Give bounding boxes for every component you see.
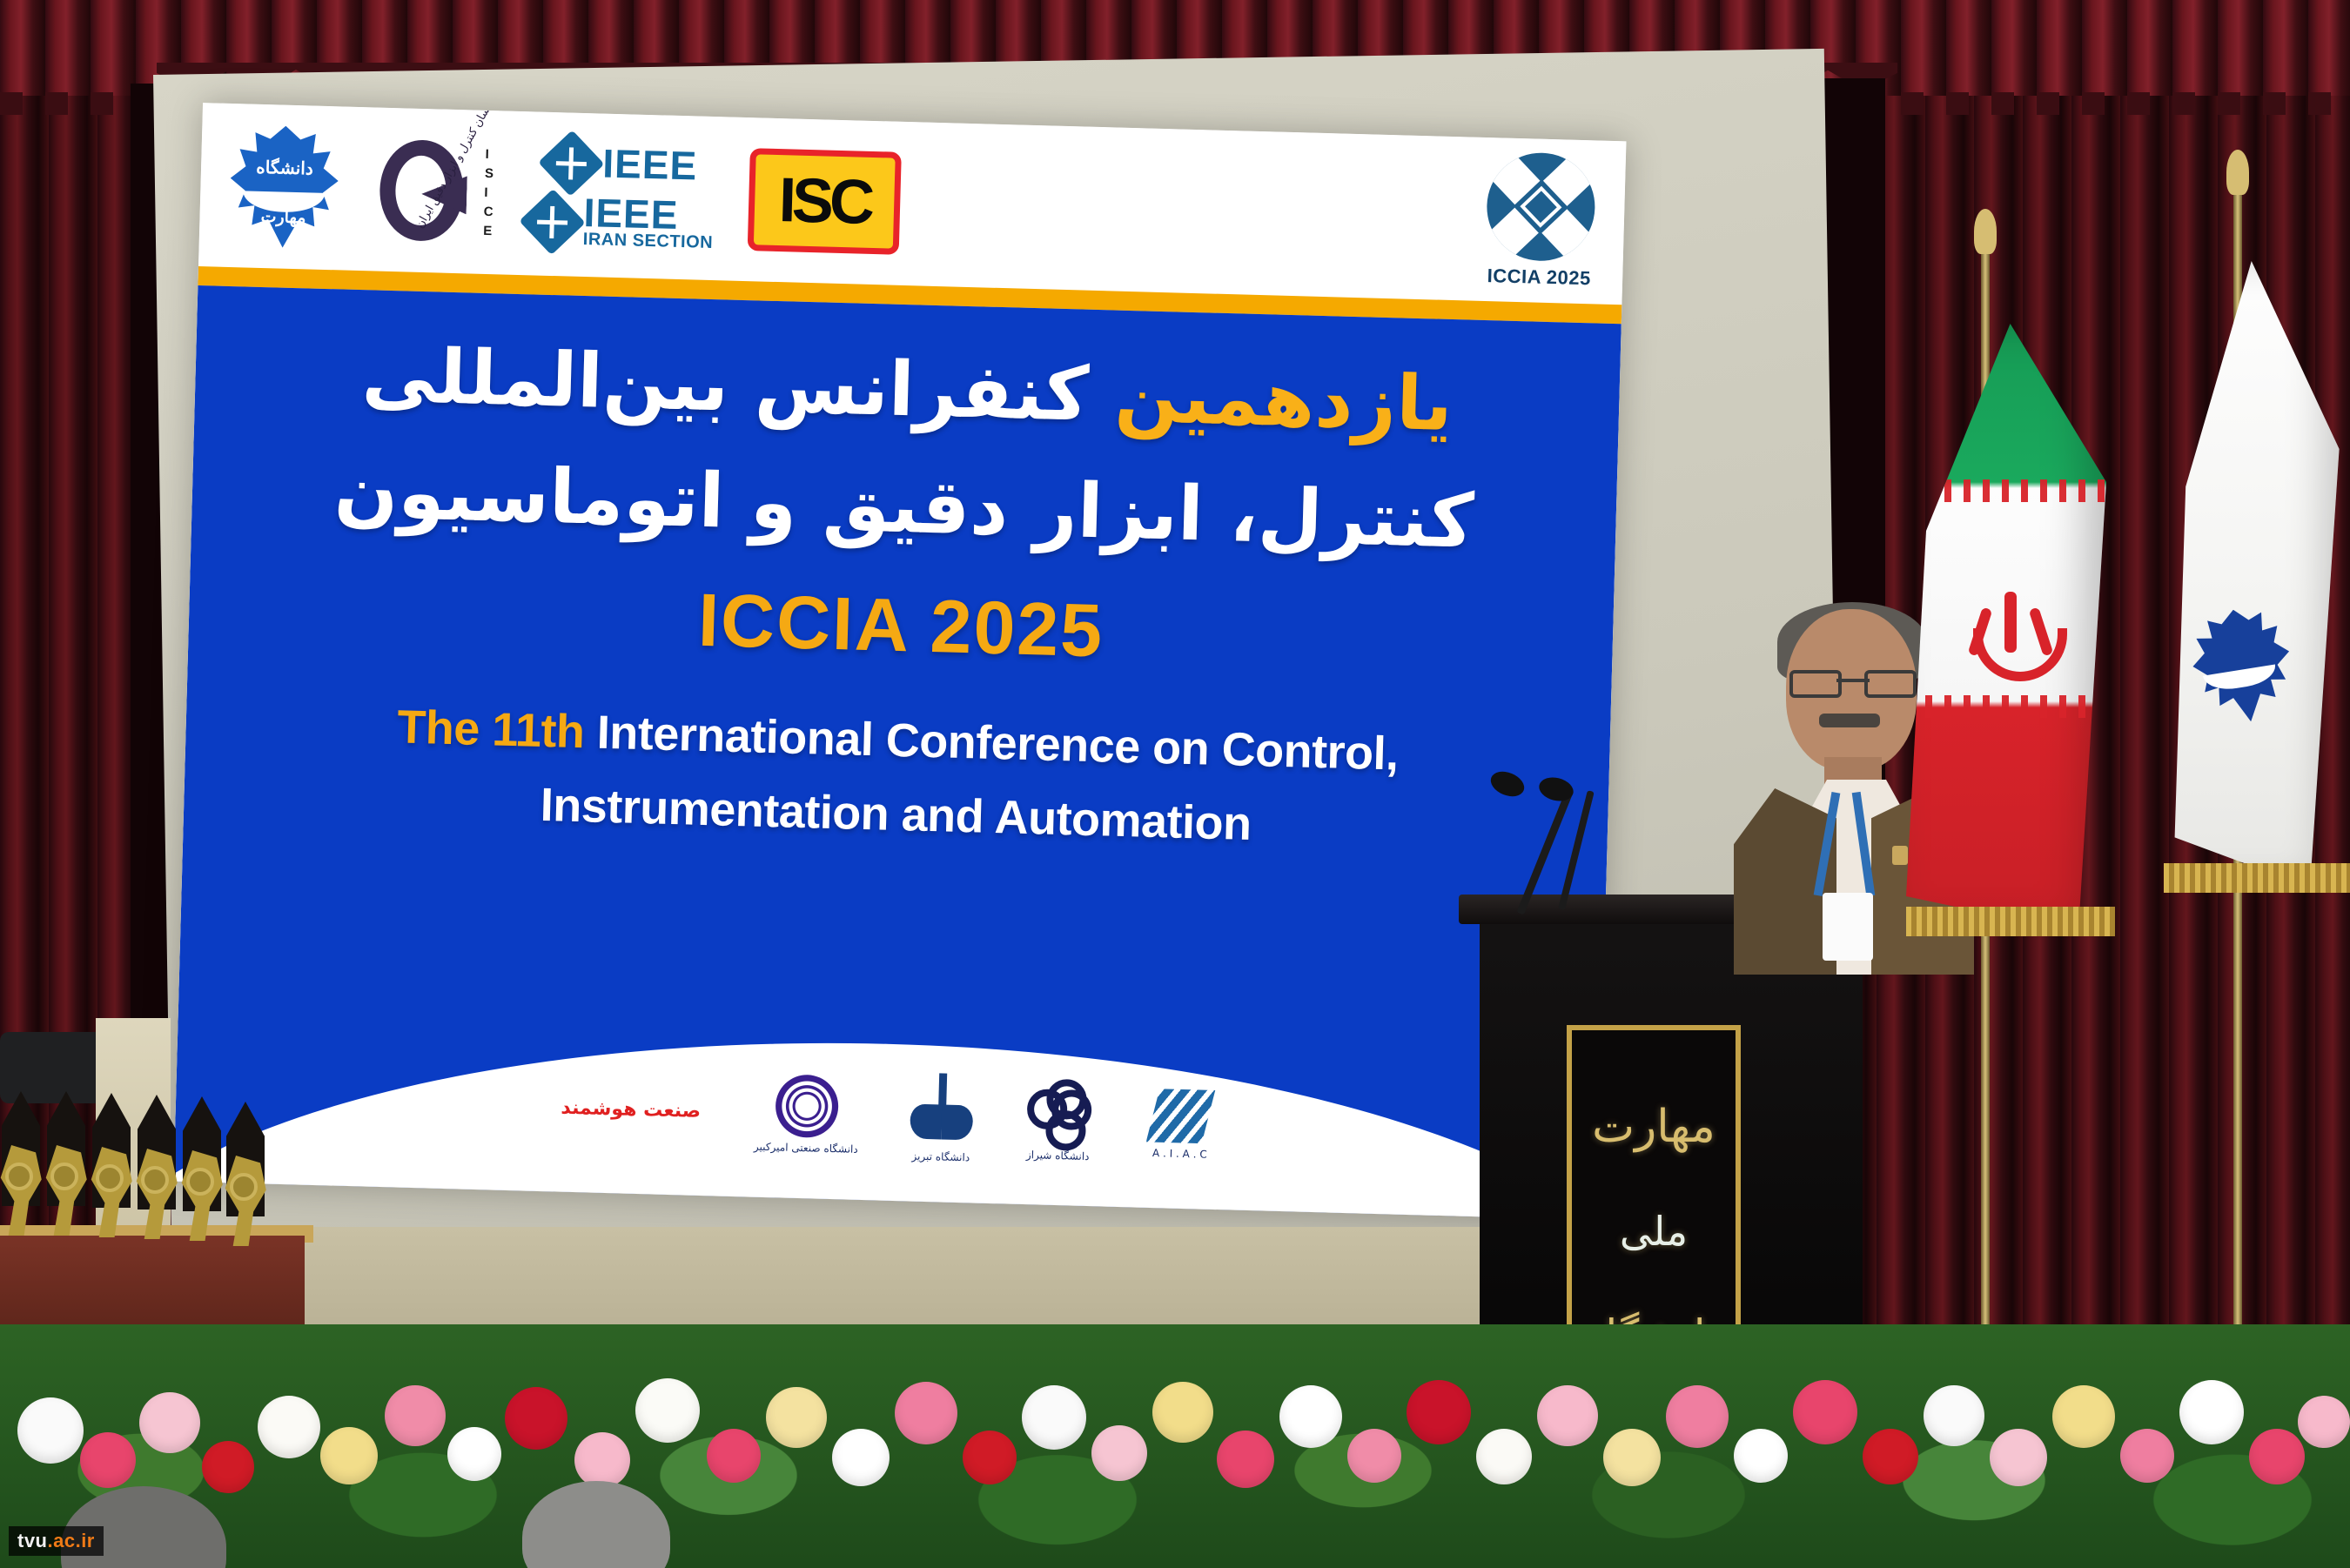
- isice-letter: I: [484, 184, 494, 199]
- flower: [505, 1387, 567, 1450]
- flower: [1793, 1380, 1857, 1444]
- trophy: [176, 1093, 225, 1241]
- isice-mark-icon: انجمن مهندسان کنترل و ابزار دقیق ایران: [372, 133, 477, 247]
- trophy: [40, 1088, 89, 1236]
- sponsor-label: دانشگاه شیراز: [1026, 1149, 1090, 1163]
- aiac-emblem-icon: [1146, 1088, 1216, 1143]
- sponsor-label: صنعت هوشمند: [561, 1096, 701, 1122]
- title-farsi-line-1: یازدهمین کنفرانس بین‌المللی: [194, 327, 1620, 452]
- flower: [766, 1387, 827, 1448]
- watermark-suffix: .ac.ir: [48, 1530, 95, 1551]
- iran-emblem-icon: [1970, 592, 2051, 682]
- flower: [447, 1427, 501, 1481]
- flower: [80, 1432, 136, 1488]
- flag-fringe-university: [2164, 863, 2350, 893]
- sponsor-aiac: A . I . A . C: [1145, 1088, 1215, 1160]
- flower: [1476, 1429, 1532, 1484]
- isc-wordmark: ISC: [778, 169, 871, 234]
- flower: [1603, 1429, 1661, 1486]
- tabriz-emblem-icon: [913, 1072, 970, 1147]
- slide-body-panel: یازدهمین کنفرانس بین‌المللی کنترل، ابزار…: [174, 285, 1621, 1220]
- isice-letters: I S I C E: [483, 146, 496, 238]
- flower: [1863, 1429, 1918, 1484]
- flower: [2052, 1385, 2115, 1448]
- flower: [1537, 1385, 1598, 1446]
- flower: [895, 1382, 957, 1444]
- title-english-line-1: The 11th International Conference on Con…: [185, 694, 1610, 787]
- title-english-highlight: The 11th: [397, 700, 586, 758]
- amirkabir-emblem-icon: [775, 1074, 839, 1138]
- site-watermark: tvu.ac.ir: [9, 1526, 104, 1556]
- isice-letter: E: [483, 223, 493, 238]
- watermark-prefix: tvu: [17, 1530, 48, 1551]
- flower: [320, 1427, 378, 1484]
- trophy: [0, 1088, 44, 1236]
- flower: [707, 1429, 761, 1483]
- speaker-moustache: [1819, 714, 1880, 727]
- flower: [1990, 1429, 2047, 1486]
- sponsor-sanat-hooshmand: صنعت هوشمند: [561, 1096, 701, 1122]
- flower: [1152, 1382, 1213, 1443]
- shiraz-emblem-icon: [1024, 1080, 1094, 1146]
- flower: [2179, 1380, 2244, 1444]
- flower: [1666, 1385, 1729, 1448]
- flower: [139, 1392, 200, 1453]
- conference-acronym: ICCIA 2025: [188, 564, 1614, 688]
- sponsor-amirkabir-university: دانشگاه صنعتی امیرکبیر: [754, 1073, 860, 1155]
- iccia-diamond-circle-icon: [1486, 151, 1596, 262]
- isice-letter: I: [485, 146, 495, 161]
- plaque-line-1: مهارت: [1592, 1101, 1715, 1153]
- sponsor-label: A . I . A . C: [1152, 1147, 1207, 1161]
- flower: [635, 1378, 700, 1443]
- flower: [258, 1396, 320, 1458]
- nsu-word-top: دانشگاه: [231, 156, 339, 180]
- flower: [2249, 1429, 2305, 1484]
- lapel-pin-icon: [1892, 846, 1908, 865]
- flag-finial-icon: [1974, 209, 1997, 254]
- flower: [1279, 1385, 1342, 1448]
- national-skills-university-logo: دانشگاه مهارت: [229, 124, 340, 249]
- trophy: [131, 1091, 179, 1239]
- plaque-line-2: ملی: [1620, 1208, 1688, 1255]
- trophy: [219, 1098, 268, 1246]
- flower: [963, 1431, 1017, 1484]
- iccia-2025-logo: ICCIA 2025: [1485, 151, 1596, 290]
- flag-fringe-iran: [1906, 907, 2115, 936]
- flower: [2120, 1429, 2174, 1483]
- flower: [1217, 1431, 1274, 1488]
- ieee-logo: IEEE IEEE IRAN SECTION: [528, 138, 716, 253]
- flower: [1347, 1429, 1401, 1483]
- sponsor-label: دانشگاه تبریز: [911, 1149, 970, 1163]
- trophy: [85, 1089, 134, 1237]
- projected-slide: دانشگاه مهارت انجمن مهندسان کنترل و ابزا…: [174, 103, 1627, 1220]
- sponsor-label: دانشگاه صنعتی امیرکبیر: [754, 1140, 858, 1155]
- flower-arrangement: [0, 1324, 2350, 1568]
- isice-logo: انجمن مهندسان کنترل و ابزار دقیق ایران I…: [372, 133, 496, 248]
- flower: [17, 1397, 84, 1464]
- nsu-word-bottom: مهارت: [229, 206, 338, 229]
- flower: [385, 1385, 446, 1446]
- university-shield-icon: [2185, 602, 2300, 729]
- title-farsi-highlight: یازدهمین: [1114, 352, 1454, 448]
- flower: [202, 1441, 254, 1493]
- flag-finial-icon: [2226, 150, 2249, 195]
- iccia-logo-label: ICCIA 2025: [1487, 265, 1591, 290]
- ieee-wordmark: IEEE: [602, 146, 698, 183]
- ieee-diamond-icon: [519, 189, 585, 255]
- isice-letter: C: [484, 204, 494, 218]
- ieee-wordmark-2: IEEE: [583, 196, 714, 234]
- ieee-diamond-icon: [538, 130, 604, 196]
- flower: [2298, 1396, 2350, 1448]
- isice-letter: S: [485, 165, 495, 180]
- flower: [1091, 1425, 1147, 1481]
- title-english-rest: International Conference on Control,: [584, 706, 1400, 780]
- sponsor-university-of-tabriz: دانشگاه تبریز: [911, 1072, 971, 1163]
- eyeglasses-icon: [1788, 670, 1918, 693]
- isc-logo: ISC: [748, 148, 902, 255]
- flower: [1407, 1380, 1471, 1444]
- flower: [1022, 1385, 1086, 1450]
- shield-icon: [229, 124, 340, 249]
- sponsor-shiraz-university: دانشگاه شیراز: [1024, 1080, 1093, 1163]
- ieee-section-label: IRAN SECTION: [582, 230, 713, 253]
- title-farsi-rest: کنفرانس بین‌المللی: [361, 332, 1117, 439]
- conference-badge: [1823, 893, 1873, 961]
- flower: [1924, 1385, 1984, 1446]
- flower: [1734, 1429, 1788, 1483]
- title-farsi-line-2: کنترل، ابزار دقیق و اتوماسیون: [191, 444, 1617, 569]
- flower: [832, 1429, 890, 1486]
- title-english-line-2: Instrumentation and Automation: [184, 768, 1608, 861]
- conference-stage-photo: دانشگاه مهارت انجمن مهندسان کنترل و ابزا…: [0, 0, 2350, 1568]
- flower: [574, 1432, 630, 1488]
